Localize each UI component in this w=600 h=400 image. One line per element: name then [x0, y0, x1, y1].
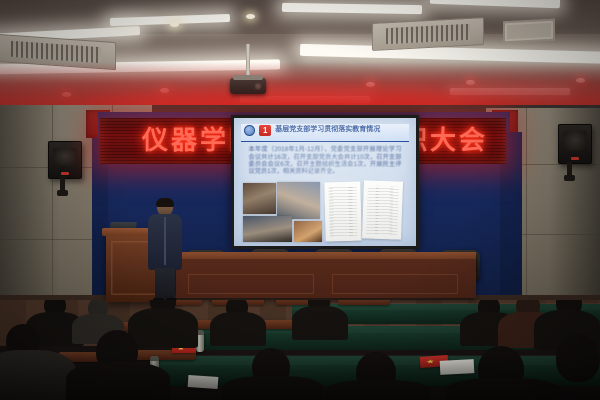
- speaker-bracket: [57, 190, 68, 196]
- slide-number-badge: 1: [259, 125, 271, 136]
- speaker-brand-badge: [571, 157, 579, 160]
- document-text-lines: [328, 186, 358, 236]
- head-table-panel: [188, 274, 314, 294]
- ceiling-vent: [503, 19, 555, 44]
- audience-chair: [338, 300, 390, 305]
- audience-member-body: [128, 308, 198, 348]
- slide-body-text: 本年度（2018年1月-12月），党委党支部开展理论学习会议共计16次，召开支部…: [249, 146, 402, 176]
- presenter-trousers: [155, 268, 175, 302]
- ceiling-downlight: [246, 14, 255, 19]
- ac-grille: [386, 23, 470, 44]
- presenter-hair: [156, 198, 174, 207]
- speaker-brand-badge: [61, 172, 69, 175]
- audience-member-body: [292, 306, 348, 340]
- speaker-bracket: [564, 175, 575, 181]
- projector-lens-icon: [254, 82, 262, 90]
- wall-speaker: [48, 141, 82, 179]
- organization-logo-icon: [244, 125, 255, 136]
- projection-screen: 1 基层党支部学习贯彻落实教育情况 本年度（2018年1月-12月），党委党支部…: [234, 118, 416, 246]
- slide-photo: [243, 183, 276, 214]
- foreground-shadow: [0, 354, 600, 400]
- document-text-lines: [366, 185, 399, 235]
- ac-grille: [11, 41, 101, 64]
- ceiling-downlight: [170, 22, 179, 27]
- presenter-jacket-zip: [164, 217, 166, 265]
- slide-media-group: [243, 182, 407, 242]
- head-table-panel: [332, 274, 458, 294]
- ceiling-red-glow-core: [60, 80, 540, 108]
- slide-document-scan: [324, 182, 362, 242]
- slide-header-bar: 1 基层党支部学习贯彻落实教育情况: [241, 124, 408, 142]
- slide-title: 基层党支部学习贯彻落实教育情况: [275, 124, 380, 136]
- ceiling: [0, 0, 600, 108]
- slide-photo: [243, 216, 292, 242]
- air-conditioner-unit: [372, 17, 484, 51]
- projector-bracket: [233, 75, 263, 80]
- conference-hall-photo: 仪器学院 述职大会 1 基层党支部学习贯彻落实教育情况 本年度（2018年1月-…: [0, 0, 600, 400]
- slide-document-scan: [362, 180, 403, 239]
- slide-photo: [277, 182, 320, 219]
- head-table-top: [176, 252, 476, 259]
- projection-screen-frame: 1 基层党支部学习贯彻落实教育情况 本年度（2018年1月-12月），党委党支部…: [231, 115, 419, 249]
- audience-member-body: [210, 312, 266, 346]
- presenter: [148, 199, 182, 302]
- speaker-cone-icon: [53, 148, 76, 167]
- head-table: [176, 252, 476, 298]
- speaker-cone-icon: [563, 131, 586, 151]
- wall-speaker: [558, 124, 592, 164]
- projector: [230, 78, 266, 94]
- slide-photo: [294, 221, 322, 243]
